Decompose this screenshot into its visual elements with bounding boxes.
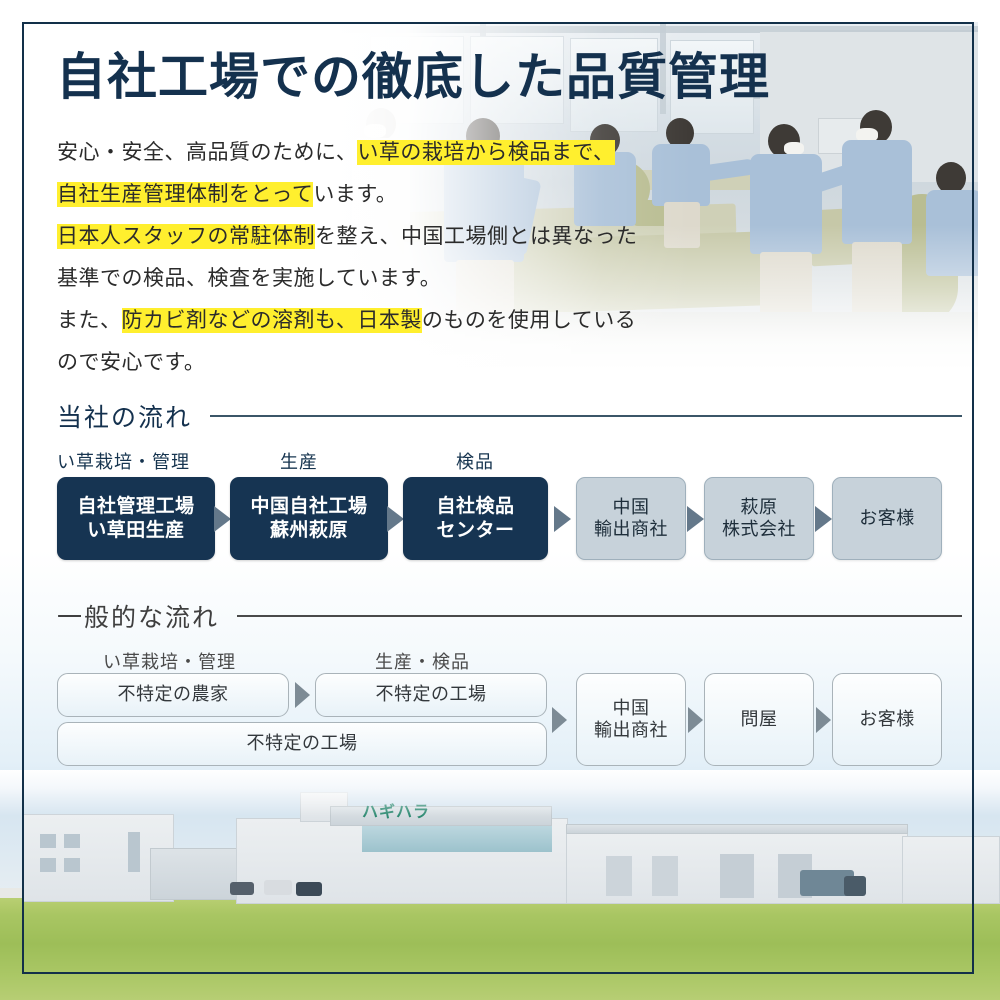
plain-text: 安心・安全、高品質のために、 [57, 141, 357, 164]
general-row2-box-1: 不特定の工場 [57, 722, 547, 766]
highlighted-text: 日本人スタッフの常駐体制 [57, 224, 315, 249]
general-tail-arrow-2 [816, 707, 831, 733]
body-line: ので安心です。 [57, 342, 757, 384]
general-tail-box-1: 中国輸出商社 [576, 673, 686, 766]
section-rule [210, 415, 962, 417]
body-line: また、防カビ剤などの溶剤も、日本製のものを使用している [57, 300, 757, 342]
own-flow-box-1: 自社管理工場い草田生産 [57, 477, 215, 560]
own-flow-arrow-3 [554, 506, 571, 532]
general-row1-box-2: 不特定の工場 [315, 673, 547, 717]
general-tail-arrow-1 [688, 707, 703, 733]
flow-label-cultivation: い草栽培・管理 [57, 448, 190, 474]
section-header-own-flow: 当社の流れ [57, 398, 962, 434]
own-flow-arrow-5 [815, 506, 832, 532]
infographic-canvas: ハギハラ 自社工場での徹底した品質管理 安心・安全、高品質のために、い草の栽培か… [0, 0, 1000, 1000]
highlighted-text: 防カビ剤などの溶剤も、日本製 [122, 308, 422, 333]
plain-text: 基準での検品、検査を実施しています。 [57, 267, 441, 290]
general-tail-box-2: 問屋 [704, 673, 814, 766]
general-row1-box-1: 不特定の農家 [57, 673, 289, 717]
general-merge-arrow [552, 707, 567, 733]
own-flow-box-4: 中国輸出商社 [576, 477, 686, 560]
plain-text: います。 [313, 183, 397, 206]
general-label-production-inspection: 生産・検品 [375, 648, 470, 674]
own-flow-arrow-4 [687, 506, 704, 532]
own-flow-box-6: お客様 [832, 477, 942, 560]
highlighted-text: 自社生産管理体制をとって [57, 182, 313, 207]
page-title: 自社工場での徹底した品質管理 [56, 52, 770, 102]
own-flow-arrow-1 [214, 506, 231, 532]
plain-text: を整え、中国工場側とは異なった [315, 225, 638, 248]
flow-label-production: 生産 [280, 448, 318, 474]
section-title-own-flow: 当社の流れ [57, 398, 192, 434]
body-line: 自社生産管理体制をとっています。 [57, 174, 757, 216]
own-flow-box-5: 萩原株式会社 [704, 477, 814, 560]
plain-text: のものを使用している [422, 309, 636, 332]
factory-exterior-photo: ハギハラ [0, 770, 1000, 1000]
general-label-cultivation: い草栽培・管理 [103, 648, 236, 674]
general-tail-box-3: お客様 [832, 673, 942, 766]
section-header-general-flow: 一般的な流れ [57, 598, 962, 634]
flow-label-inspection: 検品 [456, 448, 494, 474]
section-title-general-flow: 一般的な流れ [57, 598, 219, 634]
body-line: 日本人スタッフの常駐体制を整え、中国工場側とは異なった [57, 216, 757, 258]
body-paragraph: 安心・安全、高品質のために、い草の栽培から検品まで、自社生産管理体制をとっていま… [57, 132, 757, 384]
body-line: 基準での検品、検査を実施しています。 [57, 258, 757, 300]
general-row1-arrow [295, 682, 310, 708]
highlighted-text: い草の栽培から検品まで、 [357, 140, 614, 165]
plain-text: また、 [57, 309, 122, 332]
own-flow-box-2: 中国自社工場蘇州萩原 [230, 477, 388, 560]
section-rule [237, 615, 962, 617]
body-line: 安心・安全、高品質のために、い草の栽培から検品まで、 [57, 132, 757, 174]
own-flow-arrow-2 [387, 506, 404, 532]
own-flow-box-3: 自社検品センター [403, 477, 548, 560]
plain-text: ので安心です。 [57, 351, 205, 374]
